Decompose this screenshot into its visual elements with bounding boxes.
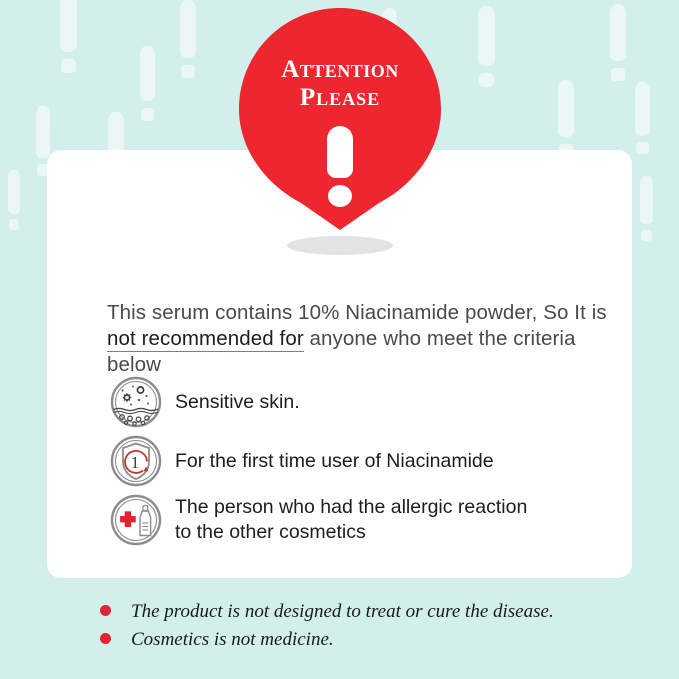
- watermark-bar: [635, 82, 650, 136]
- exclamation-watermark-icon: [558, 80, 574, 157]
- intro-emphasis: not recommended for: [107, 327, 304, 352]
- exclamation-watermark-icon: [140, 46, 155, 121]
- exclamation-watermark-icon: [640, 176, 653, 241]
- watermark-dot: [636, 142, 649, 154]
- sensitive-skin-icon: [110, 376, 162, 428]
- exclamation-watermark-icon: [180, 0, 196, 78]
- watermark-bar: [610, 4, 626, 61]
- shield-number: 1: [131, 453, 140, 472]
- list-item-text: Sensitive skin.: [175, 390, 300, 415]
- exclamation-watermark-icon: [8, 170, 20, 230]
- watermark-dot: [641, 230, 652, 241]
- attention-pin: Attention Please: [239, 8, 441, 253]
- watermark-dot: [611, 68, 625, 81]
- list-item-text: For the first time user of Niacinamide: [175, 449, 494, 474]
- list-item: The person who had the allergic reaction…: [110, 494, 610, 546]
- exclamation-watermark-icon: [635, 82, 650, 154]
- criteria-text-3-line1: The person who had the allergic reaction: [175, 496, 527, 518]
- list-item-text: The person who had the allergic reaction…: [175, 495, 527, 545]
- pin-shadow: [287, 236, 393, 255]
- pin-heading: Attention Please: [239, 56, 441, 112]
- watermark-dot: [61, 59, 76, 73]
- watermark-dot: [181, 65, 195, 78]
- exclamation-bar: [327, 126, 353, 178]
- intro-paragraph: This serum contains 10% Niacinamide powd…: [107, 300, 607, 378]
- watermark-bar: [8, 170, 20, 214]
- list-item: The product is not designed to treat or …: [100, 600, 640, 623]
- allergic-reaction-medical-icon: [110, 494, 162, 546]
- bullet-icon: [100, 605, 111, 616]
- watermark-dot: [9, 219, 19, 230]
- list-item: 1 For the first time user of Niacinamide: [110, 435, 610, 487]
- exclamation-watermark-icon: [60, 0, 77, 73]
- list-item: Sensitive skin.: [110, 376, 610, 428]
- watermark-bar: [558, 80, 574, 137]
- exclamation-watermark-icon: [610, 4, 626, 81]
- poster-canvas: Attention Please This serum contains 10%…: [0, 0, 679, 679]
- criteria-text-3-line2: to the other cosmetics: [175, 520, 527, 545]
- watermark-bar: [60, 0, 77, 52]
- watermark-bar: [36, 106, 50, 158]
- exclamation-mark-icon: [327, 126, 353, 207]
- watermark-bar: [478, 6, 495, 66]
- watermark-bar: [640, 176, 653, 224]
- criteria-text-1: Sensitive skin.: [175, 391, 300, 413]
- criteria-text-2: For the first time user of Niacinamide: [175, 450, 494, 472]
- list-item: Cosmetics is not medicine.: [100, 628, 640, 651]
- watermark-bar: [140, 46, 155, 101]
- watermark-dot: [479, 73, 494, 87]
- disclaimer-text-1: The product is not designed to treat or …: [131, 600, 554, 623]
- watermark-bar: [180, 0, 196, 58]
- criteria-list: Sensitive skin. 1 For the first time use…: [110, 376, 610, 553]
- disclaimer-text-2: Cosmetics is not medicine.: [131, 628, 334, 651]
- first-time-user-shield-icon: 1: [110, 435, 162, 487]
- pin-heading-line2: Please: [239, 84, 441, 112]
- watermark-dot: [141, 108, 154, 121]
- exclamation-dot: [328, 185, 352, 207]
- intro-part1: This serum contains 10% Niacinamide powd…: [107, 301, 607, 324]
- footer-disclaimers: The product is not designed to treat or …: [100, 600, 640, 656]
- pin-heading-line1: Attention: [281, 56, 399, 83]
- bullet-icon: [100, 633, 111, 644]
- exclamation-watermark-icon: [478, 6, 495, 87]
